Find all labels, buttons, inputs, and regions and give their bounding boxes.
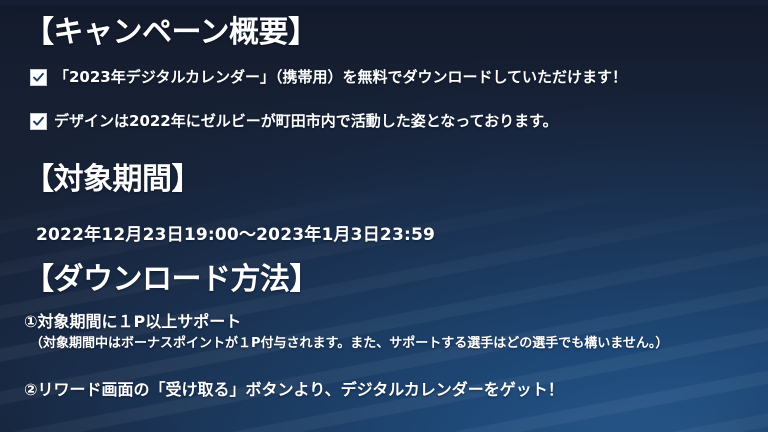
overview-item-1: 「2023年デジタルカレンダー」（携帯用）を無料でダウンロードしていただけます！ [30,69,627,86]
period-heading: 【対象期間】 [24,165,201,195]
download-step-2: ②リワード画面の「受け取る」ボタンより、デジタルカレンダーをゲット！ [24,381,564,399]
checkbox-checked-icon [30,113,47,130]
overview-item-2-label: デザインは2022年にゼルビーが町田市内で活動した姿となっております。 [54,113,558,130]
download-step-1: ①対象期間に１P以上サポート [24,313,241,331]
overview-item-2: デザインは2022年にゼルビーが町田市内で活動した姿となっております。 [30,113,558,130]
download-step-1-note: （対象期間中はボーナスポイントが１P付与されます。また、サポートする選手はどの選… [30,337,668,352]
slide-content: 【キャンペーン概要】 「2023年デジタルカレンダー」（携帯用）を無料でダウンロ… [0,0,768,432]
download-heading: 【ダウンロード方法】 [24,265,319,295]
overview-item-1-label: 「2023年デジタルカレンダー」（携帯用）を無料でダウンロードしていただけます！ [54,69,627,86]
period-date-range: 2022年12月23日19:00～2023年1月3日23:59 [36,226,435,245]
campaign-announcement-slide: 【キャンペーン概要】 「2023年デジタルカレンダー」（携帯用）を無料でダウンロ… [0,0,768,432]
overview-heading: 【キャンペーン概要】 [24,18,318,48]
checkbox-checked-icon [30,69,47,86]
